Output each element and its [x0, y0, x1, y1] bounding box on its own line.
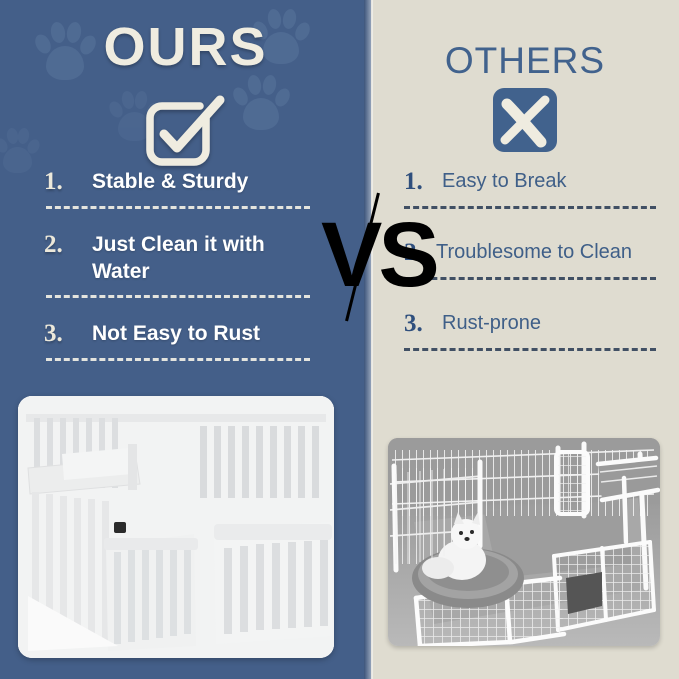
- list-item: 2. Troublesome to Clean: [404, 239, 662, 267]
- list-item: 2. Just Clean it with Water: [44, 231, 316, 285]
- x-square-icon: [489, 84, 561, 156]
- panel-seam: [364, 0, 373, 679]
- comparison-infographic: OURS 1. Stable & Sturdy: [0, 0, 679, 679]
- ours-title: OURS: [0, 16, 371, 78]
- others-panel: OTHERS 1. Easy to Break 2. Troublesome t…: [371, 0, 679, 679]
- list-item-label: Stable & Sturdy: [92, 168, 248, 195]
- list-item-label: Troublesome to Clean: [436, 239, 632, 266]
- list-item-number: 3.: [44, 320, 92, 348]
- list-item-number: 2.: [44, 231, 92, 259]
- list-divider: [404, 348, 656, 351]
- list-item-label: Just Clean it with Water: [92, 231, 302, 285]
- list-item: 3. Rust-prone: [404, 310, 662, 338]
- list-item-label: Rust-prone: [442, 310, 541, 337]
- others-product-photo: [388, 438, 660, 646]
- list-item: 1. Easy to Break: [404, 168, 662, 196]
- others-drawback-list: 1. Easy to Break 2. Troublesome to Clean…: [404, 168, 662, 351]
- list-divider: [46, 206, 310, 209]
- list-divider: [404, 206, 656, 209]
- ours-feature-list: 1. Stable & Sturdy 2. Just Clean it with…: [44, 168, 316, 361]
- list-item-label: Easy to Break: [442, 168, 567, 195]
- list-item-number: 1.: [44, 168, 92, 196]
- ours-panel: OURS 1. Stable & Sturdy: [0, 0, 371, 679]
- list-item-number: 3.: [404, 310, 442, 338]
- list-item: 1. Stable & Sturdy: [44, 168, 316, 196]
- list-item-label: Not Easy to Rust: [92, 320, 260, 347]
- list-item: 3. Not Easy to Rust: [44, 320, 316, 348]
- paw-print-icon: [0, 126, 40, 176]
- others-title: OTHERS: [371, 40, 679, 82]
- ours-product-photo: [18, 396, 334, 658]
- list-divider: [404, 277, 656, 280]
- paw-print-icon: [232, 72, 290, 134]
- list-item-number: 1.: [404, 168, 442, 196]
- list-divider: [46, 358, 310, 361]
- list-divider: [46, 295, 310, 298]
- list-item-number: 2.: [404, 239, 436, 267]
- check-square-icon: [142, 88, 230, 176]
